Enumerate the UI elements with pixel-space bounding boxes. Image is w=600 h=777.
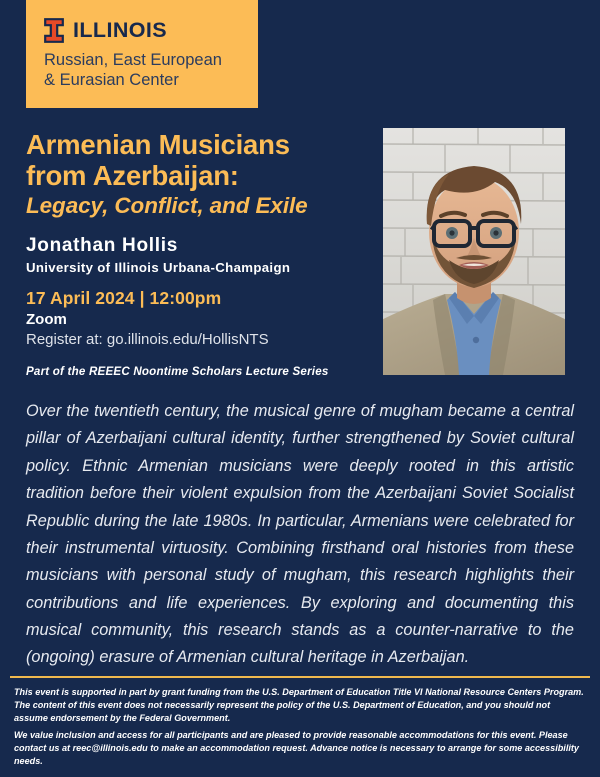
- center-name-line2: & Eurasian Center: [44, 70, 242, 90]
- event-details-block: 17 April 2024 | 12:00pm Zoom Register at…: [26, 288, 376, 378]
- talk-title: Armenian Musicians from Azerbaijan:: [26, 129, 371, 191]
- event-flyer: ILLINOIS Russian, East European & Eurasi…: [0, 0, 600, 777]
- talk-title-block: Armenian Musicians from Azerbaijan: Lega…: [26, 129, 371, 220]
- talk-title-line2: from Azerbaijan:: [26, 160, 371, 191]
- illinois-wordmark: ILLINOIS: [73, 20, 167, 42]
- brand-row: ILLINOIS: [44, 18, 242, 43]
- speaker-block: Jonathan Hollis University of Illinois U…: [26, 234, 376, 276]
- event-registration-link[interactable]: Register at: go.illinois.edu/HollisNTS: [26, 330, 376, 350]
- footer-divider: [10, 676, 590, 678]
- event-location: Zoom: [26, 310, 376, 330]
- lecture-series-label: Part of the REEEC Noontime Scholars Lect…: [26, 365, 376, 378]
- talk-subtitle: Legacy, Conflict, and Exile: [26, 193, 371, 220]
- abstract-text: Over the twentieth century, the musical …: [26, 398, 574, 672]
- talk-title-line1: Armenian Musicians: [26, 129, 371, 160]
- speaker-photo: [383, 128, 565, 375]
- event-datetime: 17 April 2024 | 12:00pm: [26, 288, 376, 309]
- center-name: Russian, East European & Eurasian Center: [44, 50, 242, 90]
- speaker-name: Jonathan Hollis: [26, 234, 376, 258]
- grant-disclaimer: This event is supported in part by grant…: [14, 686, 586, 725]
- illinois-block-i-icon: [44, 18, 64, 43]
- speaker-affiliation: University of Illinois Urbana-Champaign: [26, 260, 376, 276]
- illinois-reeec-branding-block: ILLINOIS Russian, East European & Eurasi…: [26, 0, 258, 108]
- accessibility-notice: We value inclusion and access for all pa…: [14, 729, 586, 768]
- center-name-line1: Russian, East European: [44, 50, 242, 70]
